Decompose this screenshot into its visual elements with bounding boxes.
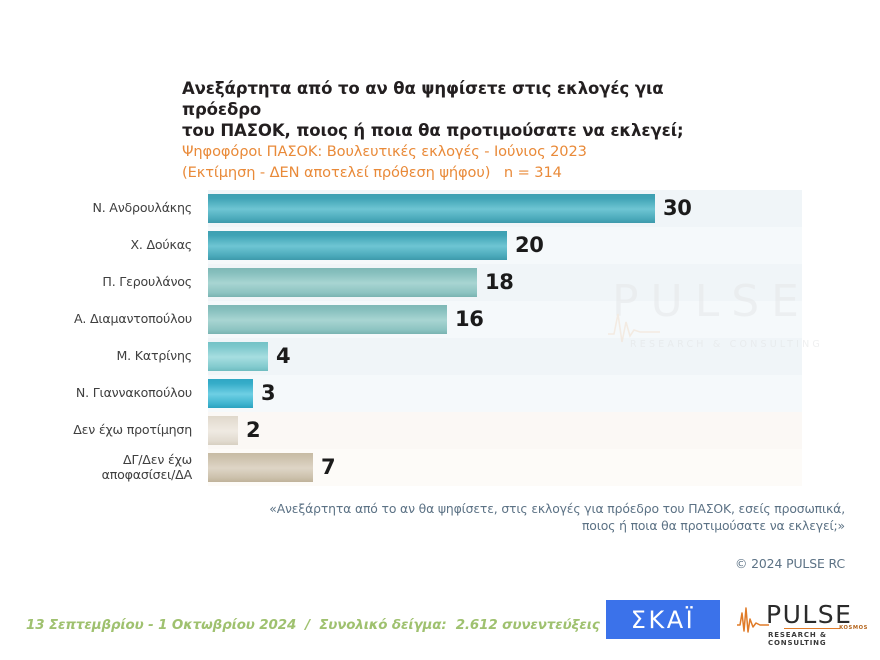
bar-container: 20 [208,231,544,260]
table-row: Μ. Κατρίνης 4 [0,338,880,375]
category-label: Ν. Ανδρουλάκης [0,201,192,216]
table-row: Π. Γερουλάνος 18 [0,264,880,301]
category-label: Δεν έχω προτίμηση [0,423,192,438]
subtitle-line-2: (Εκτίμηση - ΔΕΝ αποτελεί πρόθεση ψήφου) … [182,162,742,183]
pulse-wave-icon [736,605,770,635]
bar-container: 4 [208,342,290,371]
bar-value-label: 20 [515,231,544,260]
bar[interactable] [208,231,507,260]
footnote-line-1: «Ανεξάρτητα από το αν θα ψηφίσετε, στις … [225,500,845,517]
bar[interactable] [208,342,268,371]
table-row: Ν. Γιαννακοπούλου 3 [0,375,880,412]
bar[interactable] [208,453,313,482]
copyright-text: © 2024 PULSE RC [225,556,845,571]
pulse-logo-rule [784,628,840,629]
pulse-logo-subtext: RESEARCH & CONSULTING [768,631,870,647]
table-row: ΔΓ/Δεν έχω αποφασίσει/ΔΑ 7 [0,449,880,486]
bar[interactable] [208,268,477,297]
pulse-logo: PULSE KOSMOS RESEARCH & CONSULTING [736,600,870,642]
category-label: ΔΓ/Δεν έχω αποφασίσει/ΔΑ [0,453,192,482]
poll-chart-page: Ανεξάρτητα από το αν θα ψηφίσετε στις εκ… [0,0,880,660]
category-label-line-1: ΔΓ/Δεν έχω [0,453,192,468]
bar-container: 2 [208,416,260,445]
bar-value-label: 30 [663,194,692,223]
bar-value-label: 4 [276,342,290,371]
bar-value-label: 16 [455,305,484,334]
chart-header: Ανεξάρτητα από το αν θα ψηφίσετε στις εκ… [182,78,742,183]
bar[interactable] [208,416,238,445]
bar-value-label: 7 [321,453,335,482]
category-label: Χ. Δούκας [0,238,192,253]
skai-logo: ΣΚΑΪ [606,600,720,639]
table-row: Δεν έχω προτίμηση 2 [0,412,880,449]
fieldwork-date-range: 13 Σεπτεμβρίου - 1 Οκτωβρίου 2024 / Συνο… [26,618,600,633]
table-row: Α. Διαμαντοπούλου 16 [0,301,880,338]
bar-value-label: 18 [485,268,514,297]
bar-container: 16 [208,305,484,334]
bar-rows: Ν. Ανδρουλάκης 30 Χ. Δούκας 20 Π. Γερουλ… [0,190,880,486]
category-label: Μ. Κατρίνης [0,349,192,364]
question-footnote: «Ανεξάρτητα από το αν θα ψηφίσετε, στις … [225,500,845,534]
bar-value-label: 2 [246,416,260,445]
category-label-line-2: αποφασίσει/ΔΑ [0,468,192,483]
footnote-line-2: ποιος ή ποια θα προτιμούσατε να εκλεγεί;… [225,517,845,534]
category-label: Α. Διαμαντοπούλου [0,312,192,327]
bar[interactable] [208,194,655,223]
category-label: Ν. Γιαννακοπούλου [0,386,192,401]
page-title-line-1: Ανεξάρτητα από το αν θα ψηφίσετε στις εκ… [182,78,742,120]
bar-container: 18 [208,268,514,297]
subtitle-line-1: Ψηφοφόροι ΠΑΣΟΚ: Βουλευτικές εκλογές - Ι… [182,141,742,162]
category-label: Π. Γερουλάνος [0,275,192,290]
bar[interactable] [208,305,447,334]
bar-chart: PULSE RESEARCH & CONSULTING Ν. Ανδρουλάκ… [0,190,880,486]
bar-container: 30 [208,194,692,223]
table-row: Ν. Ανδρουλάκης 30 [0,190,880,227]
page-title-line-2: του ΠΑΣΟΚ, ποιος ή ποια θα προτιμούσατε … [182,120,742,141]
table-row: Χ. Δούκας 20 [0,227,880,264]
bar[interactable] [208,379,253,408]
bar-container: 3 [208,379,275,408]
pulse-logo-text: PULSE [766,601,852,628]
bar-container: 7 [208,453,335,482]
skai-logo-text: ΣΚΑΪ [631,607,695,633]
bar-value-label: 3 [261,379,275,408]
